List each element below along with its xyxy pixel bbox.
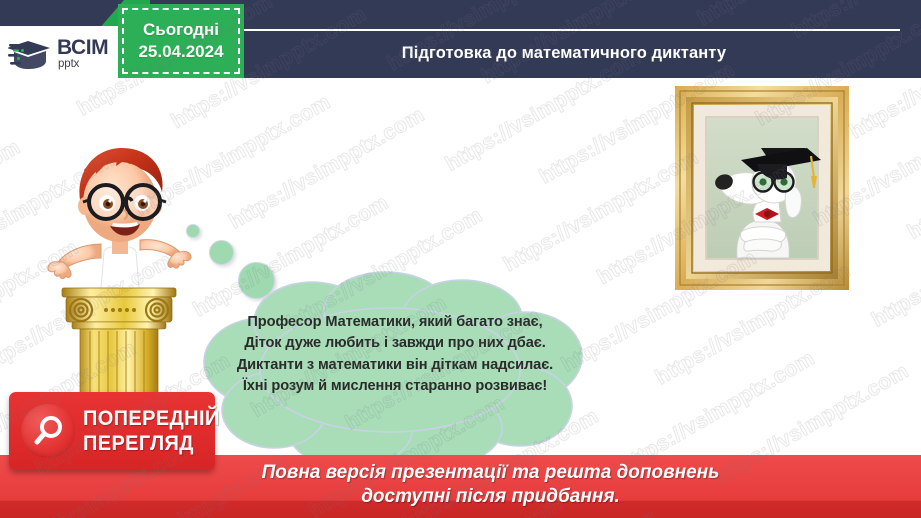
- preview-badge[interactable]: ПОПЕРЕДНІЙ ПЕРЕГЛЯД: [9, 392, 215, 470]
- framed-dog-portrait: [675, 86, 849, 290]
- preview-icon-circle: [21, 404, 75, 458]
- magnifier-icon: [31, 414, 65, 448]
- poem-text: Професор Математики, який багато знає, Д…: [200, 312, 590, 398]
- preview-label: ПОПЕРЕДНІЙ ПЕРЕГЛЯД: [83, 408, 220, 455]
- date-badge-value: 25.04.2024: [138, 42, 223, 62]
- logo-main-text: ВСІМ: [57, 37, 108, 58]
- thought-bubble-medium: [209, 240, 234, 265]
- today-date-badge: Сьогодні 25.04.2024: [118, 4, 244, 78]
- poem-line-2: Діток дуже любить і завжди про них дбає.: [200, 333, 590, 354]
- date-badge-label: Сьогодні: [143, 20, 219, 40]
- logo-sub-text: pptx: [58, 59, 108, 71]
- banner-line-1: Повна версія презентації та решта доповн…: [262, 461, 720, 485]
- banner-text: Повна версія презентації та решта доповн…: [202, 461, 720, 510]
- brand-logo[interactable]: ВСІМ pptx: [0, 26, 131, 81]
- graduation-cap-icon: [8, 37, 54, 71]
- preview-label-line-1: ПОПЕРЕДНІЙ: [83, 408, 220, 430]
- poem-line-4: Їхні розум й мислення старанно розвиває!: [200, 376, 590, 397]
- thought-bubble-small: [186, 224, 200, 238]
- poem-line-3: Диктанти з математики він діткам надсила…: [200, 355, 590, 376]
- page-title: Підготовка до математичного диктанту: [284, 44, 726, 63]
- poem-line-1: Професор Математики, який багато знає,: [200, 312, 590, 333]
- slide-canvas: Підготовка до математичного диктанту: [0, 0, 921, 518]
- banner-line-2: доступні після придбання.: [262, 485, 720, 509]
- preview-label-line-2: ПЕРЕГЛЯД: [83, 433, 220, 455]
